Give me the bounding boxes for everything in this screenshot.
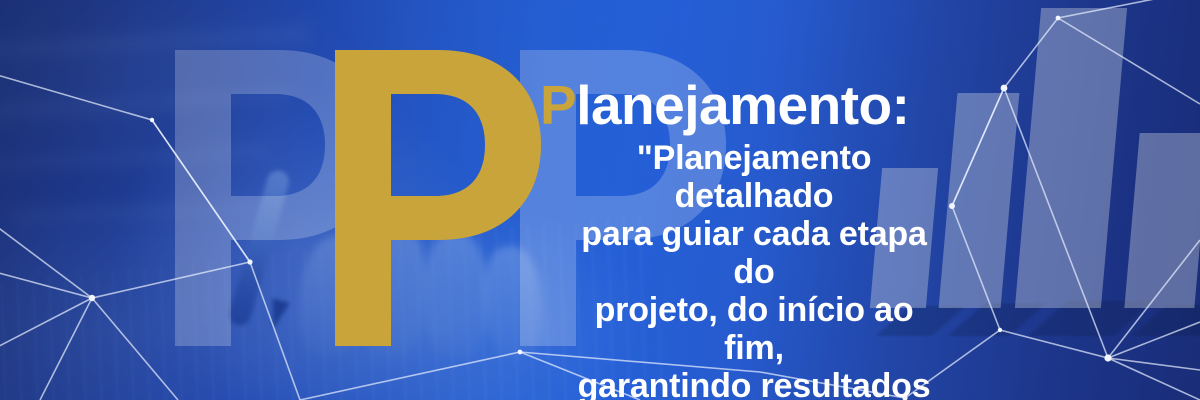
headline-rest: lanejamento: xyxy=(576,74,909,136)
quote-line: para guiar cada etapa do xyxy=(568,215,940,291)
headline-accent-initial: P xyxy=(540,74,576,136)
quote-line: projeto, do início ao fim, xyxy=(568,291,940,367)
quote-text: "Planejamento detalhado para guiar cada … xyxy=(568,139,940,400)
quote-line: "Planejamento detalhado xyxy=(568,139,940,215)
promo-banner: Planejamento: "Planejamento detalhado pa… xyxy=(0,0,1200,400)
quote-line: garantindo resultados xyxy=(568,367,940,400)
page-title: Planejamento: xyxy=(540,78,940,133)
banner-copy: Planejamento: "Planejamento detalhado pa… xyxy=(540,78,940,400)
